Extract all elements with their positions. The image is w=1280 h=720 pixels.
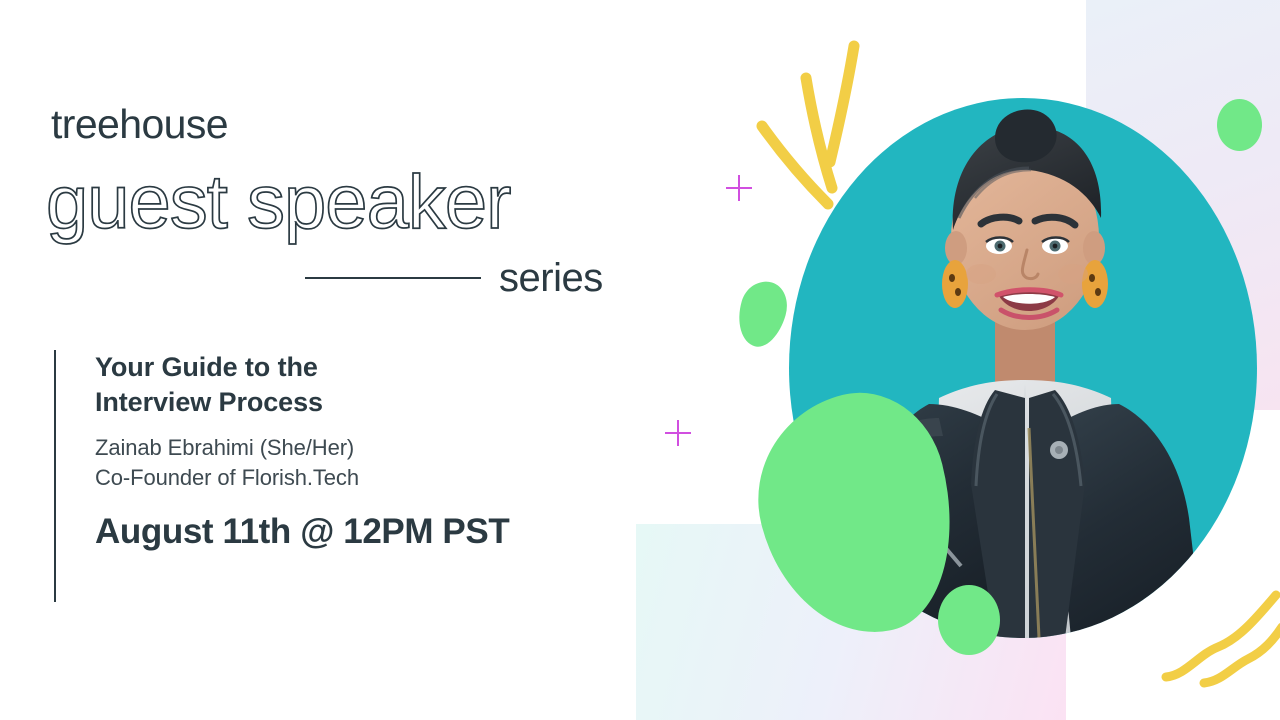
series-label: series: [499, 258, 603, 298]
event-datetime: August 11th @ 12PM PST: [95, 514, 509, 549]
talk-title-line-2: Interview Process: [95, 385, 509, 420]
event-details: Your Guide to the Interview Process Zain…: [54, 350, 509, 602]
speaker-role: Co-Founder of Florish.Tech: [95, 463, 509, 492]
magenta-plus-icon: [726, 175, 752, 201]
svg-text:guest speaker: guest speaker: [46, 160, 511, 245]
green-blob-left: [731, 276, 793, 352]
brand-name: treehouse: [51, 104, 228, 145]
yellow-squiggle-icon: [1160, 575, 1280, 690]
green-blob-small: [938, 585, 1000, 655]
series-divider-rule: [305, 277, 481, 279]
headline-outline-text: guest speaker: [46, 160, 686, 246]
magenta-plus-icon: [665, 420, 691, 446]
talk-title-line-1: Your Guide to the: [95, 350, 509, 385]
promo-slide: treehouse guest speaker series Your Guid…: [0, 0, 1280, 720]
series-row: series: [305, 258, 635, 298]
speaker-name: Zainab Ebrahimi (She/Her): [95, 433, 509, 462]
green-blob-topright: [1217, 99, 1262, 151]
